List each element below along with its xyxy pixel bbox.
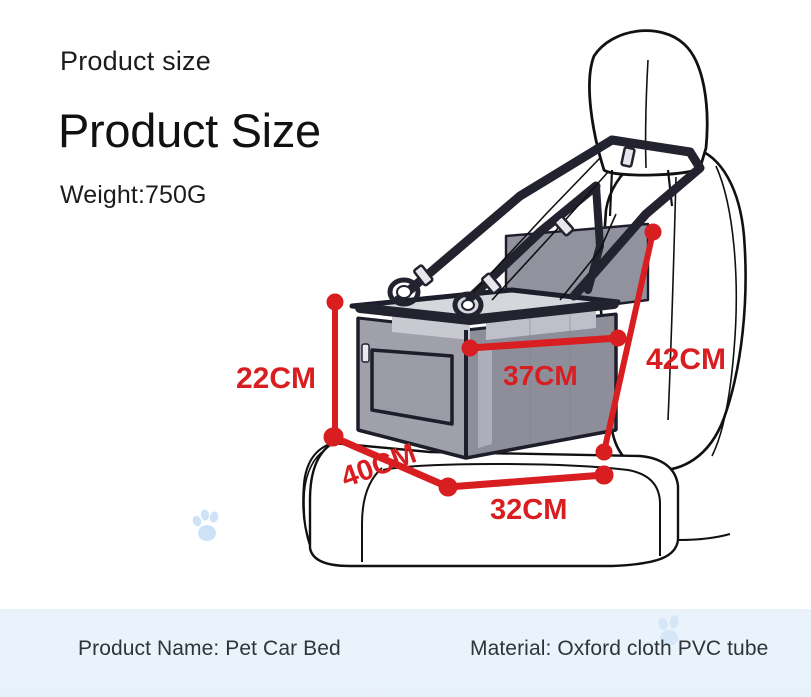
dimension-label-22cm: 22CM <box>236 362 316 396</box>
dimension-line-22cm <box>327 294 343 444</box>
page-canvas: Product size Product Size Weight:750G <box>0 0 811 697</box>
footer-product-name: Product Name: Pet Car Bed <box>78 637 341 661</box>
dimension-label-37cm: 37CM <box>503 360 578 392</box>
paw-print-icon <box>190 506 226 546</box>
dimension-label-32cm: 32CM <box>490 494 567 527</box>
dimension-label-42cm: 42CM <box>646 343 726 377</box>
footer-material: Material: Oxford cloth PVC tube <box>470 637 768 661</box>
product-diagram-illustration <box>0 0 811 610</box>
